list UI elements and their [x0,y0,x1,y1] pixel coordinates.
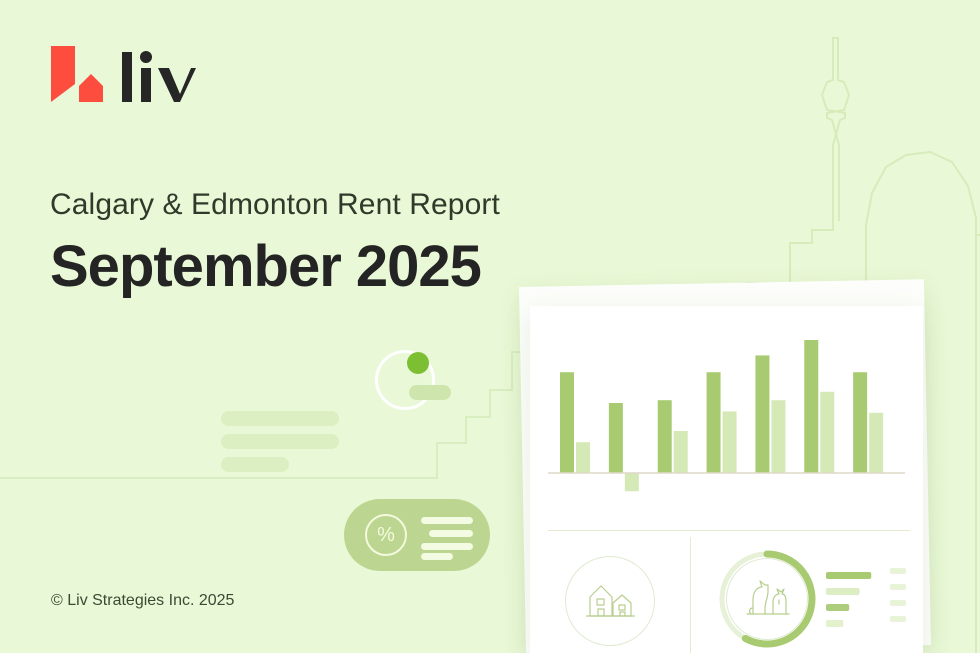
stat-chip [890,584,906,590]
percent-badge: % [344,499,490,571]
chart-bar [820,392,834,473]
chart-bar [609,403,623,473]
chart-bar [707,372,721,473]
chart-bar [723,411,737,473]
placeholder-bar-1 [221,411,339,426]
badge-line-4 [421,553,453,560]
pets-icon-circle [726,558,808,640]
chart-bar [674,431,688,473]
brand-logo [48,44,198,104]
housing-panel [565,556,655,646]
report-cover: Calgary & Edmonton Rent Report September… [0,0,980,653]
chart-bar [560,372,574,473]
stat-chip [890,616,906,622]
chart-bar [755,355,769,473]
stat-bar [826,604,849,611]
copyright-notice: © Liv Strategies Inc. 2025 [51,592,234,610]
dog-and-cat-icon [743,578,791,620]
chart-bar [869,413,883,473]
liv-wordmark [120,50,198,104]
badge-line-1 [421,517,473,524]
stat-bar [826,620,843,627]
bar-chart [530,306,923,506]
accent-dot-decoration [407,352,429,374]
stat-bar [826,588,860,595]
report-subtitle: Calgary & Edmonton Rent Report [50,188,500,222]
badge-line-2 [429,530,473,537]
placeholder-bar-3 [221,457,289,472]
placeholder-bar-2 [221,434,339,449]
stat-bar [826,572,871,579]
chart-bar [804,340,818,473]
chart-bar [625,473,639,491]
report-title: September 2025 [50,233,481,300]
section-divider-horizontal [548,530,910,531]
liv-house-logo-icon [48,44,110,104]
two-houses-icon [583,580,637,622]
pets-stat-bars [826,568,908,634]
chart-bar [576,442,590,473]
chart-bar [853,372,867,473]
document-sheet-front [530,306,923,653]
stat-chip [890,568,906,574]
stat-chip [890,600,906,606]
mini-pill-decoration [409,385,451,400]
section-divider-vertical [690,537,691,653]
percent-icon: % [365,514,407,556]
chart-bar [658,400,672,473]
chart-bar [771,400,785,473]
badge-line-3 [421,543,473,550]
